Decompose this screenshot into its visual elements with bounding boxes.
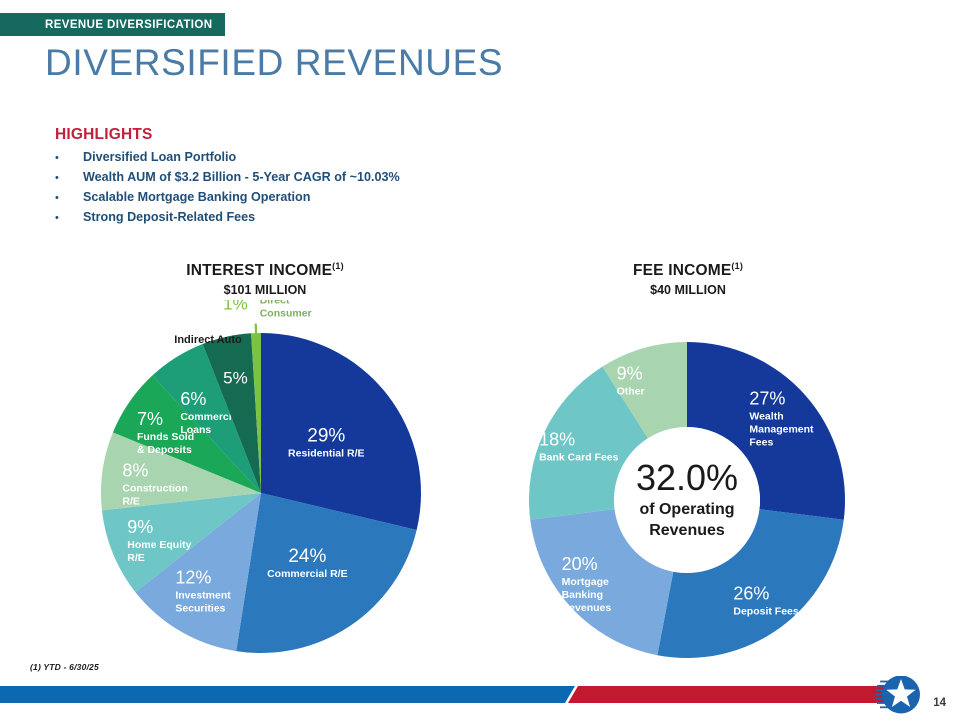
highlights-heading: HIGHLIGHTS (55, 126, 153, 144)
donut-hub (614, 427, 760, 573)
pie-slice-label: Home Equity (127, 539, 191, 551)
pie-slice-label: R/E (127, 552, 145, 564)
company-logo-icon (875, 676, 920, 714)
donut-center-caption: Revenues (649, 522, 725, 539)
pie-slice-percent: 8% (122, 460, 148, 480)
interest-income-title-text: INTEREST INCOME (186, 262, 332, 279)
list-item: • Wealth AUM of $3.2 Billion - 5-Year CA… (55, 168, 615, 188)
pie-slice-percent: 9% (127, 517, 153, 537)
page-number: 14 (933, 697, 946, 709)
pie-slice-label: Direct (260, 300, 290, 306)
bullet-dot-icon: • (55, 188, 83, 208)
highlights-list: • Diversified Loan Portfolio • Wealth AU… (55, 148, 615, 228)
fee-income-subtitle: $40 MILLION (548, 283, 828, 297)
donut-slice-percent: 27% (749, 389, 785, 409)
donut-slice-label: Deposit Fees (733, 606, 799, 618)
footer-red-stripe (568, 686, 885, 703)
section-eyebrow-label: REVENUE DIVERSIFICATION (45, 19, 212, 31)
pie-slice-percent: 7% (137, 409, 163, 429)
footer-decoration (0, 676, 960, 720)
pie-slice-label: Investment (175, 589, 231, 601)
pie-slice-label: Consumer (260, 307, 312, 319)
pie-slice-label: Securities (175, 602, 225, 614)
donut-slice-label: Revenues (562, 602, 612, 614)
fee-income-donut-chart: 27%WealthManagementFees26%Deposit Fees20… (515, 300, 865, 660)
footnote-marker: (1) (731, 261, 743, 271)
donut-center-value: 32.0% (636, 457, 738, 498)
pie-slice-percent: 12% (175, 567, 211, 587)
bullet-dot-icon: • (55, 168, 83, 188)
pie-slice-label: Commercial R/E (267, 568, 348, 580)
interest-income-pie-chart: 29%Residential R/E24%Commercial R/E12%In… (90, 300, 440, 660)
pie-slice-percent: 24% (288, 546, 326, 567)
pie-slice-percent: 29% (307, 425, 345, 446)
slide-footnote: (1) YTD - 6/30/25 (30, 662, 99, 672)
pie-slice-label: Construction (122, 482, 187, 494)
list-item-label: Diversified Loan Portfolio (83, 150, 236, 164)
fee-income-title-text: FEE INCOME (633, 262, 731, 279)
section-eyebrow-banner: REVENUE DIVERSIFICATION (0, 13, 225, 36)
list-item-label: Wealth AUM of $3.2 Billion - 5-Year CAGR… (83, 170, 400, 184)
fee-income-title: FEE INCOME(1) (548, 261, 828, 280)
page-title: DIVERSIFIED REVENUES (45, 42, 503, 84)
list-item: • Diversified Loan Portfolio (55, 148, 615, 168)
pie-slice-percent: 1% (223, 300, 248, 313)
donut-slice-label: Bank Card Fees (539, 451, 619, 463)
fee-income-chart-heading: FEE INCOME(1) $40 MILLION (548, 261, 828, 297)
bullet-dot-icon: • (55, 208, 83, 228)
bullet-dot-icon: • (55, 148, 83, 168)
donut-slice-label: Banking (562, 589, 603, 601)
donut-slice-label: Other (617, 386, 645, 398)
pie-slice-label: Residential R/E (288, 447, 364, 459)
list-item-label: Strong Deposit-Related Fees (83, 210, 255, 224)
donut-slice-label: Mortgage (562, 576, 609, 588)
slide-root: REVENUE DIVERSIFICATION DIVERSIFIED REVE… (0, 0, 960, 720)
pie-slice-label: & Deposits (137, 444, 192, 456)
donut-slice-percent: 18% (539, 429, 575, 449)
interest-income-chart-heading: INTEREST INCOME(1) $101 MILLION (125, 261, 405, 297)
donut-slice-label: Wealth (749, 411, 783, 423)
footer-blue-stripe (0, 686, 575, 703)
donut-center-caption: of Operating (639, 501, 734, 518)
donut-slice-percent: 26% (733, 584, 769, 604)
list-item: • Strong Deposit-Related Fees (55, 208, 615, 228)
pie-slice-label: Loans (180, 424, 211, 436)
donut-slice-label: Fees (749, 437, 773, 449)
donut-slice-percent: 20% (562, 554, 598, 574)
pie-slice-percent: 5% (223, 368, 248, 387)
donut-slice-percent: 9% (617, 364, 643, 384)
pie-slice-label: Indirect Auto (174, 334, 242, 346)
pie-slice-label: R/E (122, 495, 140, 507)
donut-slice-label: Management (749, 424, 814, 436)
list-item: • Scalable Mortgage Banking Operation (55, 188, 615, 208)
list-item-label: Scalable Mortgage Banking Operation (83, 190, 310, 204)
pie-slice-percent: 6% (180, 389, 206, 409)
interest-income-title: INTEREST INCOME(1) (125, 261, 405, 280)
interest-income-subtitle: $101 MILLION (125, 283, 405, 297)
footnote-marker: (1) (332, 261, 344, 271)
